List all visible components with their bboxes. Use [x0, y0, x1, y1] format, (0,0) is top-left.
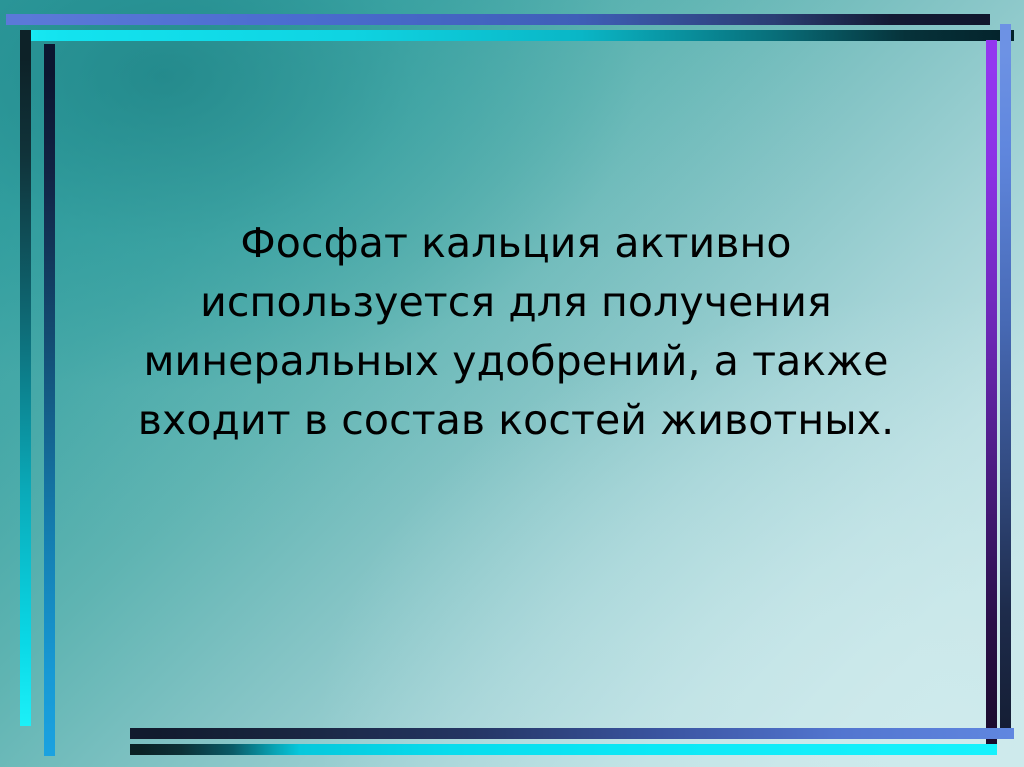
frame-line-bottom-outer-right — [300, 744, 997, 755]
frame-line-right-outer — [986, 40, 997, 754]
presentation-slide: Фосфат кальция активно используется для … — [0, 0, 1024, 767]
frame-line-top-outer — [6, 14, 990, 25]
frame-line-bottom-outer — [130, 744, 300, 755]
frame-line-left-inner — [44, 44, 55, 756]
frame-line-right-inner — [1000, 24, 1011, 738]
frame-line-bottom-inner — [130, 728, 1014, 739]
frame-line-left-outer — [20, 30, 31, 726]
slide-body-text: Фосфат кальция активно используется для … — [96, 214, 936, 450]
frame-line-top-inner — [30, 30, 1014, 41]
